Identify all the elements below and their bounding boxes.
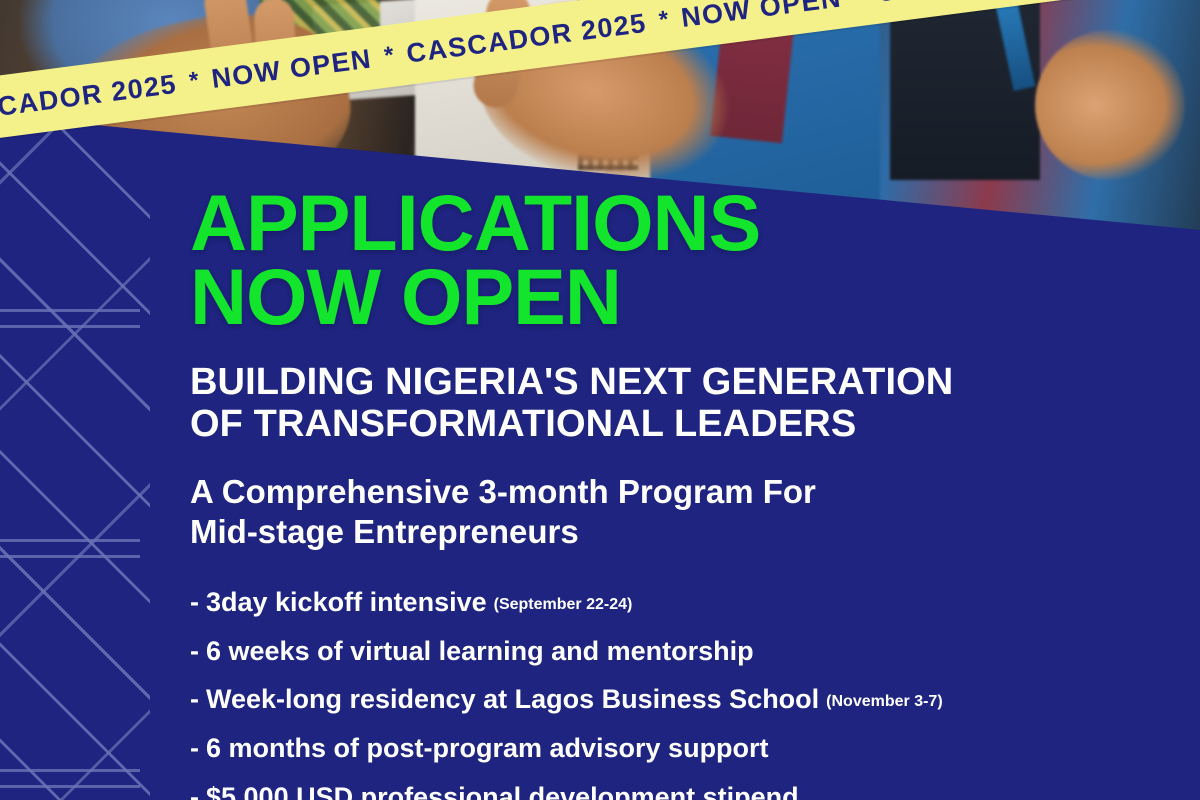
list-item: -Week-long residency at Lagos Business S…	[190, 685, 1180, 715]
cascador-application-poster: CASCADOR 2025 * NOW OPEN * CASCADOR 2025…	[0, 0, 1200, 800]
headline-line-2: NOW OPEN	[190, 260, 1180, 334]
bullet-dash: -	[190, 587, 199, 617]
bullet-text: $5,000 USD professional development stip…	[206, 782, 799, 800]
bullet-date-note: (November 3-7)	[826, 693, 942, 710]
bullet-date-note: (September 22-24)	[494, 596, 633, 613]
bullet-dash: -	[190, 636, 199, 666]
subheadline-line-2: OF TRANSFORMATIONAL LEADERS	[190, 403, 1180, 446]
bullet-dash: -	[190, 684, 199, 714]
bullet-text: 6 weeks of virtual learning and mentorsh…	[206, 636, 754, 666]
headline-line-1: APPLICATIONS	[190, 186, 1180, 260]
program-benefits-list: -3day kickoff intensive(September 22-24)…	[190, 588, 1180, 800]
bullet-text: Week-long residency at Lagos Business Sc…	[206, 684, 819, 714]
bullet-dash: -	[190, 733, 199, 763]
list-item: -6 weeks of virtual learning and mentors…	[190, 637, 1180, 667]
ribbon-segment-now-open: NOW OPEN	[197, 41, 387, 96]
pattern-cross-diagonal-lines	[0, 120, 150, 800]
bullet-text: 6 months of post-program advisory suppor…	[206, 733, 769, 763]
page-title: APPLICATIONS NOW OPEN	[190, 186, 1180, 335]
program-tagline: A Comprehensive 3-month Program For Mid-…	[190, 472, 1180, 553]
bullet-text: 3day kickoff intensive	[206, 587, 487, 617]
decorative-line-pattern	[0, 120, 150, 800]
subheadline: BUILDING NIGERIA'S NEXT GENERATION OF TR…	[190, 361, 1180, 446]
subheadline-line-1: BUILDING NIGERIA'S NEXT GENERATION	[190, 361, 1180, 404]
list-item: -$5,000 USD professional development sti…	[190, 783, 1180, 800]
ribbon-segment-now-open: NOW OPEN	[667, 0, 857, 35]
photo-hand-far-right	[1035, 30, 1185, 180]
bullet-dash: -	[190, 782, 199, 800]
poster-content: APPLICATIONS NOW OPEN BUILDING NIGERIA'S…	[190, 186, 1180, 800]
list-item: -3day kickoff intensive(September 22-24)	[190, 588, 1180, 618]
tagline-line-2: Mid-stage Entrepreneurs	[190, 512, 1180, 552]
tagline-line-1: A Comprehensive 3-month Program For	[190, 472, 1180, 512]
list-item: -6 months of post-program advisory suppo…	[190, 734, 1180, 764]
